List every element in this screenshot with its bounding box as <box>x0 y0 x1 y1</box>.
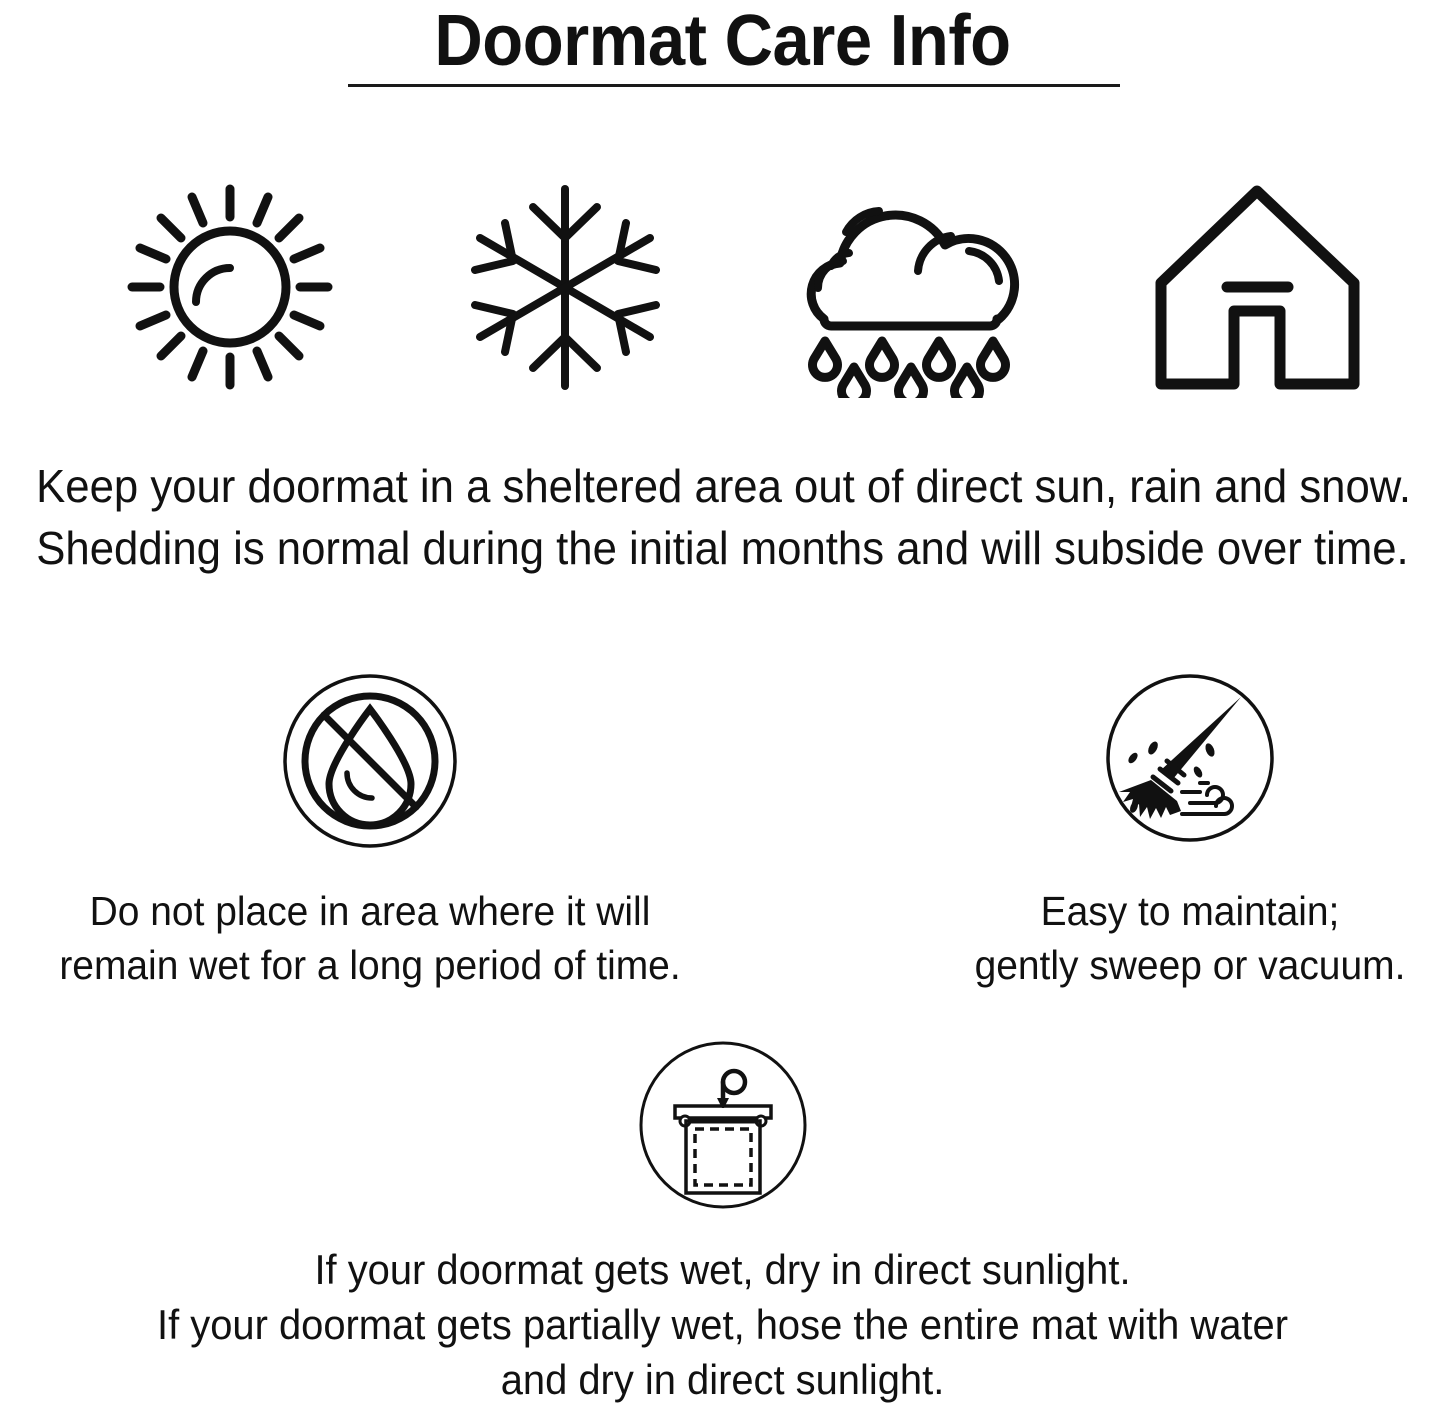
tips-section: Do not place in area where it will remai… <box>0 672 1445 992</box>
tip-sweep-line-1: Easy to maintain; <box>896 884 1445 938</box>
snowflake-icon-cell <box>425 170 705 405</box>
no-water-icon <box>281 672 459 850</box>
drying-line-1: If your doormat gets wet, dry in direct … <box>36 1242 1409 1297</box>
title-underline <box>348 84 1120 87</box>
lead-line-2: Shedding is normal during the initial mo… <box>36 517 1409 579</box>
lead-line-1: Keep your doormat in a sheltered area ou… <box>36 455 1409 517</box>
drying-line-3: and dry in direct sunlight. <box>36 1352 1409 1407</box>
drying-section: If your doormat gets wet, dry in direct … <box>0 1036 1445 1407</box>
snowflake-icon <box>458 175 673 400</box>
drying-paragraph: If your doormat gets wet, dry in direct … <box>36 1242 1409 1407</box>
rain-cloud-icon-cell <box>760 170 1060 405</box>
lead-paragraph: Keep your doormat in a sheltered area ou… <box>36 455 1409 579</box>
page-header: Doormat Care Info <box>0 0 1445 80</box>
tip-no-water-caption: Do not place in area where it will remai… <box>38 884 703 992</box>
hang-dry-badge <box>0 1036 1445 1214</box>
tip-sweep: Easy to maintain; gently sweep or vacuum… <box>880 672 1445 992</box>
no-water-badge <box>20 672 720 852</box>
house-icon-cell <box>1115 170 1400 405</box>
house-icon <box>1150 178 1365 398</box>
broom-sweep-badge <box>880 672 1445 852</box>
rain-cloud-icon <box>785 178 1035 398</box>
page-title: Doormat Care Info <box>51 0 1395 80</box>
tip-no-water-line-2: remain wet for a long period of time. <box>38 938 703 992</box>
weather-icon-row <box>0 170 1445 405</box>
broom-sweep-icon <box>1104 672 1276 844</box>
hang-dry-icon <box>634 1036 812 1214</box>
tip-no-water: Do not place in area where it will remai… <box>20 672 720 992</box>
tip-no-water-line-1: Do not place in area where it will <box>38 884 703 938</box>
tip-sweep-caption: Easy to maintain; gently sweep or vacuum… <box>896 884 1445 992</box>
sun-icon <box>115 175 345 400</box>
tip-sweep-line-2: gently sweep or vacuum. <box>896 938 1445 992</box>
sun-icon-cell <box>75 170 385 405</box>
drying-line-2: If your doormat gets partially wet, hose… <box>36 1297 1409 1352</box>
care-info-page: Doormat Care Info <box>0 0 1445 1393</box>
